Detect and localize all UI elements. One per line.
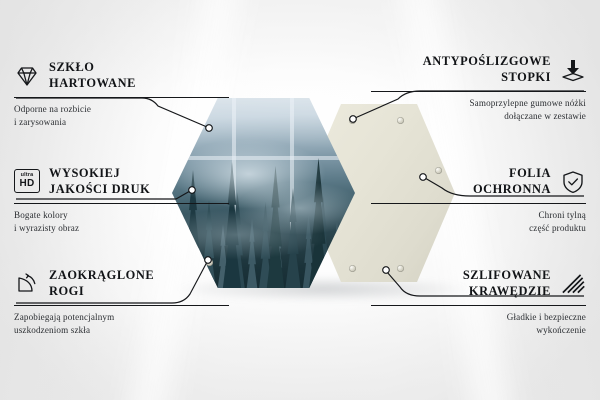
feature-block-folia-ochronna: FOLIA OCHRONNA Chroni tylną część produk… bbox=[371, 166, 586, 235]
press-down-pad-icon bbox=[560, 57, 586, 83]
feature-title: SZKŁO HARTOWANE bbox=[49, 60, 136, 92]
feature-divider bbox=[371, 203, 586, 204]
feature-divider bbox=[14, 97, 229, 98]
feature-description: Chroni tylną część produktu bbox=[371, 209, 586, 235]
feature-block-szklo-hartowane: SZKŁO HARTOWANE Odporne na rozbicie i za… bbox=[14, 60, 229, 129]
feature-title: FOLIA OCHRONNA bbox=[473, 166, 551, 198]
infographic-canvas: SZKŁO HARTOWANE Odporne na rozbicie i za… bbox=[0, 0, 600, 400]
rounded-corner-icon bbox=[14, 271, 40, 297]
feature-block-antyposlizgowe-stopki: ANTYPOŚLIZGOWE STOPKI Samoprzylepne gumo… bbox=[371, 54, 586, 123]
feature-description: Samoprzylepne gumowe nóżki dołączane w z… bbox=[371, 97, 586, 123]
diamond-icon bbox=[14, 63, 40, 89]
feature-divider bbox=[14, 305, 229, 306]
feature-title: SZLIFOWANE KRAWĘDZIE bbox=[463, 268, 551, 300]
feature-divider bbox=[14, 203, 229, 204]
feature-head: SZKŁO HARTOWANE bbox=[14, 60, 229, 92]
shield-check-icon bbox=[560, 169, 586, 195]
feature-head: ZAOKRĄGLONE ROGI bbox=[14, 268, 229, 300]
feature-description: Bogate kolory i wyrazisty obraz bbox=[14, 209, 229, 235]
feature-block-zaokraglone-rogi: ZAOKRĄGLONE ROGI Zapobiegają potencjalny… bbox=[14, 268, 229, 337]
rubber-foot bbox=[349, 117, 356, 124]
rubber-foot bbox=[206, 259, 213, 266]
bevel-edge-lines-icon bbox=[560, 271, 586, 297]
feature-head: ultra HD WYSOKIEJ JAKOŚCI DRUK bbox=[14, 166, 229, 198]
rubber-foot bbox=[349, 265, 356, 272]
feature-head: SZLIFOWANE KRAWĘDZIE bbox=[371, 268, 586, 300]
feature-head: FOLIA OCHRONNA bbox=[371, 166, 586, 198]
feature-description: Odporne na rozbicie i zarysowania bbox=[14, 103, 229, 129]
feature-title: WYSOKIEJ JAKOŚCI DRUK bbox=[49, 166, 150, 198]
feature-divider bbox=[371, 91, 586, 92]
feature-description: Zapobiegają potencjalnym uszkodzeniom sz… bbox=[14, 311, 229, 337]
feature-block-szlifowane-krawedzie: SZLIFOWANE KRAWĘDZIE Gładkie i bezpieczn… bbox=[371, 268, 586, 337]
feature-title: ZAOKRĄGLONE ROGI bbox=[49, 268, 154, 300]
feature-block-wysokiej-jakosci-druk: ultra HD WYSOKIEJ JAKOŚCI DRUK Bogate ko… bbox=[14, 166, 229, 235]
feature-description: Gładkie i bezpieczne wykończenie bbox=[371, 311, 586, 337]
feature-divider bbox=[371, 305, 586, 306]
ultra-hd-badge-icon: ultra HD bbox=[14, 169, 40, 195]
feature-head: ANTYPOŚLIZGOWE STOPKI bbox=[371, 54, 586, 86]
feature-title: ANTYPOŚLIZGOWE STOPKI bbox=[423, 54, 551, 86]
